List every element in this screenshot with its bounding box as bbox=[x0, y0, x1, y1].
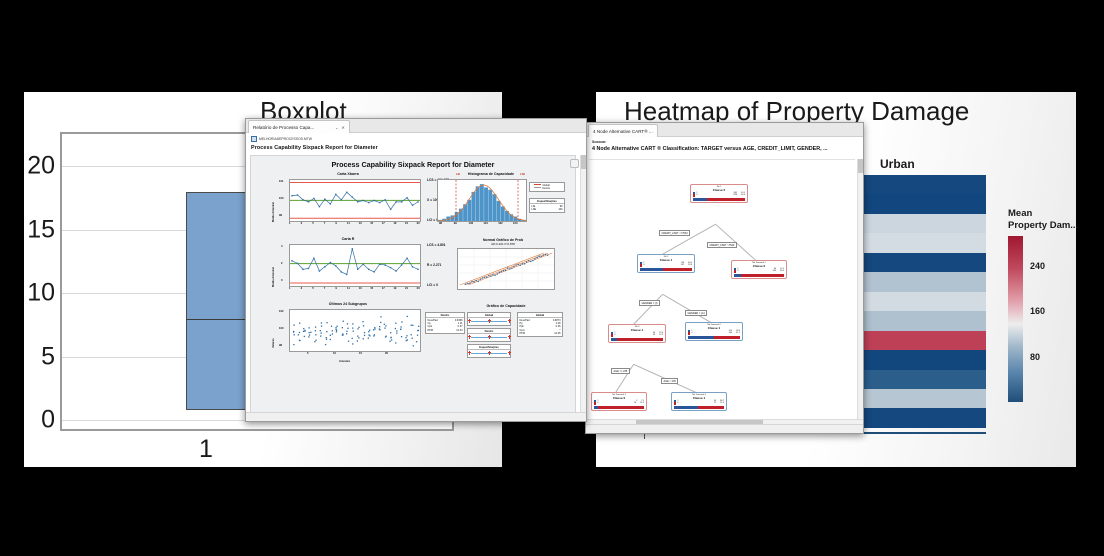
panel-histogram-plot bbox=[437, 179, 527, 222]
class-swatch-icon bbox=[693, 194, 695, 196]
tree-node-row: 03627.0 bbox=[611, 334, 663, 336]
minitab-file-name: MELHORIADEPROCESSOS.MTW bbox=[259, 137, 312, 141]
close-icon[interactable]: ✕ bbox=[341, 125, 345, 130]
capability-strip-bar bbox=[468, 350, 510, 357]
tree-node-row: 050239.6 bbox=[640, 264, 692, 266]
xbar-ytick: 99 bbox=[279, 214, 282, 217]
boxplot-ytick-0: 0 bbox=[41, 406, 55, 435]
xbar-xtick: 15 bbox=[370, 222, 373, 225]
panel-last-subgroups-ylabel: Valores bbox=[272, 338, 275, 348]
tree-node[interactable]: Nó Terminal 3Classe 0127.902492.1 bbox=[591, 392, 647, 411]
tree-split-label: AGE > 235 bbox=[661, 378, 678, 384]
rchart-xtick: 3 bbox=[301, 287, 303, 290]
spec-row: LSE100 bbox=[530, 208, 564, 211]
xbar-ytick: 100 bbox=[279, 197, 283, 200]
class-swatch-icon bbox=[611, 334, 613, 336]
minitab-tab-label: Relatório de Processo Capa... bbox=[253, 125, 314, 130]
rchart-xtick: 5 bbox=[312, 287, 314, 290]
panel-normplot: Normal Gráfico de Prob AD:0.201 P:0.878 bbox=[443, 238, 563, 300]
scatter-xtick: 20 bbox=[385, 352, 388, 355]
panel-rchart-plot bbox=[289, 244, 421, 287]
xbar-xtick: 17 bbox=[382, 222, 385, 225]
tree-node-table: 127.902492.1 bbox=[594, 400, 644, 405]
capability-strips: GlobalDentroEspecificações bbox=[467, 312, 511, 360]
capability-within-box: Dentro DesvPad0.9366Cp1.11Cpk0.37PPM13.4… bbox=[425, 312, 465, 334]
tree-split-label: GENDER = {f} bbox=[639, 300, 660, 306]
tree-node-row: 01211.3 bbox=[674, 402, 724, 404]
boxplot-xtick-1: 1 bbox=[199, 435, 213, 464]
worksheet-icon bbox=[251, 136, 257, 142]
xbar-xtick: 5 bbox=[312, 222, 314, 225]
xbar-xtick: 19 bbox=[393, 222, 396, 225]
xbar-xtick: 9 bbox=[335, 222, 337, 225]
xbar-xtick: 13 bbox=[359, 222, 362, 225]
scatter-ytick: 98 bbox=[279, 344, 282, 347]
legend-title-line1: Mean bbox=[1008, 208, 1074, 220]
tree-node-bar bbox=[611, 338, 663, 341]
tree-node[interactable]: Nó 1Classe 0186243.10113856.9 bbox=[690, 184, 748, 203]
tree-node[interactable]: Nó Terminal 2Classe 1167058.9046641.1 bbox=[685, 322, 743, 341]
minitab-tabstrip: Relatório de Processo Capa... ⌄ ✕ bbox=[246, 119, 586, 133]
panel-capability-title: Gráfico de Capacidade bbox=[443, 304, 569, 308]
hist-xtick: 103 bbox=[513, 222, 517, 225]
panel-xbar-title: Carta Xbarra bbox=[273, 172, 423, 176]
capability-strip-bar bbox=[468, 334, 510, 341]
panel-normplot-subtitle: AD:0.201 P:0.878 bbox=[443, 242, 563, 246]
tree-edge bbox=[663, 294, 711, 322]
panel-last-subgroups-title: Últimos 24 Subgrupos bbox=[273, 302, 423, 306]
rchart-ytick: 4 bbox=[281, 245, 283, 248]
class-swatch-icon bbox=[734, 270, 736, 272]
overall-rows: DesvPad0.9873Pp1.08Ppk0.36Cpm*PPM12.05 bbox=[518, 318, 562, 336]
tree-node-table: 19613.1063686.9 bbox=[734, 268, 784, 273]
panel-capability: Gráfico de Capacidade Dentro DesvPad0.93… bbox=[443, 304, 569, 366]
tree-node-bar bbox=[594, 406, 644, 409]
minitab-status-bar bbox=[246, 412, 586, 422]
hist-xtick: 99 bbox=[454, 222, 457, 225]
sixpack-report-title: Process Capability Sixpack Report for Di… bbox=[251, 160, 575, 169]
panel-normplot-plot bbox=[457, 248, 555, 290]
hist-xtick: 101 bbox=[483, 222, 487, 225]
screenshot-stage: Boxplot 0 5 10 15 20 bbox=[0, 0, 1104, 556]
cart-vscroll-thumb[interactable] bbox=[858, 159, 863, 173]
panel-xbar-plot bbox=[289, 179, 421, 222]
rchart-limit-label: R = 2.271 bbox=[427, 263, 441, 267]
spec-rows: LIE99LSE100 bbox=[530, 204, 564, 212]
within-rows: DesvPad0.9366Cp1.11Cpk0.37PPM13.43 bbox=[426, 318, 464, 333]
rchart-xtick: 13 bbox=[359, 287, 362, 290]
minitab-vscroll-thumb[interactable] bbox=[581, 155, 586, 169]
xbar-xtick: 21 bbox=[405, 222, 408, 225]
tree-node[interactable]: Nó 2Classe 1176660.4050239.6 bbox=[637, 254, 695, 273]
scatter-xtick: 10 bbox=[333, 352, 336, 355]
cart-tabstrip: 4 Node Alternative CART® ... bbox=[586, 123, 863, 137]
xbar-xtick: 11 bbox=[347, 222, 350, 225]
scatter-xtick: 5 bbox=[307, 352, 309, 355]
xbar-xtick: 1 bbox=[289, 222, 291, 225]
tree-split-label: GENDER = {m} bbox=[685, 310, 707, 316]
scatter-ytick: 102 bbox=[279, 310, 283, 313]
tree-node-bar bbox=[734, 274, 784, 277]
legend-label-dentro: Dentro bbox=[543, 187, 551, 190]
rchart-xtick: 17 bbox=[382, 287, 385, 290]
rchart-xtick: 1 bbox=[289, 287, 291, 290]
heatmap-legend: Mean Property Dam... 240 160 80 bbox=[1008, 208, 1074, 428]
tree-node-row: 0113856.9 bbox=[693, 194, 745, 196]
capability-strip: Especificações bbox=[467, 344, 511, 358]
histogram-spec-box: Especificações LIE99LSE100 bbox=[529, 198, 565, 213]
cart-status-bar bbox=[586, 424, 863, 434]
legend-tick-160: 160 bbox=[1030, 306, 1045, 316]
cart-report-title: 4 Node Alternative CART ® Classification… bbox=[592, 146, 863, 152]
class-swatch-icon bbox=[594, 402, 596, 404]
tree-node-bar bbox=[688, 336, 740, 339]
tree-split-label: CREDIT_LIMIT <=7540 bbox=[659, 230, 690, 236]
hist-xtick: 100 bbox=[469, 222, 473, 225]
class-swatch-icon bbox=[674, 402, 676, 404]
tree-node[interactable]: Nó 3Classe 119673.003627.0 bbox=[608, 324, 666, 343]
rchart-xtick: 19 bbox=[393, 287, 396, 290]
legend-gradient-bar bbox=[1008, 236, 1023, 402]
tree-node-row: 063686.9 bbox=[734, 270, 784, 272]
boxplot-ytick-5: 5 bbox=[41, 342, 55, 371]
legend-title-line2: Property Dam... bbox=[1008, 220, 1074, 232]
tree-node-table: 19488.701211.3 bbox=[674, 400, 724, 405]
tree-node-row: 046641.1 bbox=[688, 332, 740, 334]
panel-last-subgroups-xlabel: Amostra bbox=[339, 360, 350, 363]
tree-node-table: 186243.10113856.9 bbox=[693, 192, 745, 197]
tree-node-table: 167058.9046641.1 bbox=[688, 330, 740, 335]
rchart-xtick: 15 bbox=[370, 287, 373, 290]
scatter-xtick: 15 bbox=[359, 352, 362, 355]
capability-overall-box: Global DesvPad0.9873Pp1.08Ppk0.36Cpm*PPM… bbox=[517, 312, 563, 337]
legend-tick-240: 240 bbox=[1030, 261, 1045, 271]
rchart-xtick: 11 bbox=[347, 287, 350, 290]
panel-rchart: Carta R Média Amostral 420 1357911131517… bbox=[273, 237, 423, 295]
hist-spec-mark: LIE bbox=[456, 173, 460, 176]
histogram-legend-box: Global Dentro bbox=[529, 182, 565, 192]
minitab-vertical-scrollbar[interactable] bbox=[580, 155, 586, 413]
boxplot-ytick-10: 10 bbox=[27, 279, 55, 308]
minitab-report-heading: Process Capability Sixpack Report for Di… bbox=[246, 142, 586, 154]
minimize-icon[interactable]: ⌄ bbox=[335, 125, 339, 130]
sixpack-options-button[interactable] bbox=[570, 159, 579, 168]
rchart-xtick: 21 bbox=[405, 287, 408, 290]
panel-histogram: Histograma de Capacidade 989910010110210… bbox=[433, 172, 567, 230]
boxplot-ytick-15: 15 bbox=[27, 215, 55, 244]
panel-histogram-title: Histograma de Capacidade bbox=[415, 172, 567, 176]
class-swatch-icon bbox=[640, 264, 642, 266]
tree-edge bbox=[663, 224, 716, 254]
sixpack-report-canvas: Process Capability Sixpack Report for Di… bbox=[250, 155, 576, 418]
capability-strip: Global bbox=[467, 312, 511, 326]
rchart-xtick: 7 bbox=[324, 287, 326, 290]
scatter-ytick: 100 bbox=[279, 327, 283, 330]
tree-node[interactable]: Nó Terminal 1Classe 019613.1063686.9 bbox=[731, 260, 787, 279]
tree-node-bar bbox=[674, 406, 724, 409]
heatmap-column-label-urban: Urban bbox=[880, 157, 915, 171]
boxplot-ytick-20: 20 bbox=[27, 152, 55, 181]
minitab-application-window[interactable]: Relatório de Processo Capa... ⌄ ✕ MELHOR… bbox=[245, 118, 587, 422]
legend-tick-80: 80 bbox=[1030, 352, 1040, 362]
overall-row: PPM12.05 bbox=[518, 332, 562, 335]
tree-node-bar bbox=[640, 268, 692, 271]
rchart-ytick: 2 bbox=[281, 262, 283, 265]
panel-rchart-title: Carta R bbox=[273, 237, 423, 241]
cart-application-window[interactable]: 4 Node Alternative CART® ... Scoocar: 4 … bbox=[585, 122, 864, 434]
minitab-file-row: MELHORIADEPROCESSOS.MTW bbox=[246, 133, 586, 142]
xbar-ytick: 101 bbox=[279, 180, 283, 183]
within-row: PPM13.43 bbox=[426, 329, 464, 332]
hist-xtick: 102 bbox=[498, 222, 502, 225]
cart-tree-canvas: Nó 1Classe 0186243.10113856.9Nó 2Classe … bbox=[589, 159, 855, 422]
panel-xbar: Carta Xbarra Média Amostral 10110099 135… bbox=[273, 172, 423, 230]
class-swatch-icon bbox=[688, 332, 690, 334]
rchart-xtick: 9 bbox=[335, 287, 337, 290]
tree-node-table: 19673.003627.0 bbox=[611, 332, 663, 337]
panel-rchart-ylabel: Média Amostral bbox=[272, 267, 275, 287]
xbar-xtick: 3 bbox=[301, 222, 303, 225]
tree-split-label: CREDIT_LIMIT >7540 bbox=[707, 242, 737, 248]
hist-spec-mark: LSE bbox=[520, 173, 525, 176]
rchart-xtick: 23 bbox=[417, 287, 420, 290]
hist-xtick: 98 bbox=[439, 222, 442, 225]
xbar-xtick: 23 bbox=[417, 222, 420, 225]
capability-strip-bar bbox=[468, 318, 510, 325]
rchart-ytick: 0 bbox=[281, 279, 283, 282]
tree-edge bbox=[634, 294, 663, 324]
tree-split-label: AGE <= 235 bbox=[611, 368, 630, 374]
minitab-tab[interactable]: Relatório de Processo Capa... ⌄ ✕ bbox=[248, 120, 350, 133]
xbar-xtick: 7 bbox=[324, 222, 326, 225]
panel-last-subgroups-plot bbox=[289, 309, 421, 352]
cart-vertical-scrollbar[interactable] bbox=[857, 159, 863, 422]
cart-tab[interactable]: 4 Node Alternative CART® ... bbox=[588, 124, 658, 137]
cart-tab-label: 4 Node Alternative CART® ... bbox=[593, 129, 653, 134]
tree-node-row: 02492.1 bbox=[594, 402, 644, 404]
rchart-limit-label: LCI = 0 bbox=[427, 283, 438, 287]
legend-row-dentro: Dentro bbox=[532, 187, 562, 190]
tree-node-bar bbox=[693, 198, 745, 201]
panel-xbar-ylabel: Média Amostral bbox=[272, 202, 275, 222]
panel-last-subgroups: Últimos 24 Subgrupos Valores 10210098 51… bbox=[273, 302, 423, 368]
capability-strip: Dentro bbox=[467, 328, 511, 342]
tree-node[interactable]: Nó Terminal 4Classe 119488.701211.3 bbox=[671, 392, 727, 411]
tree-node-table: 176660.4050239.6 bbox=[640, 262, 692, 267]
cart-subtitle: Scoocar: bbox=[592, 140, 863, 144]
